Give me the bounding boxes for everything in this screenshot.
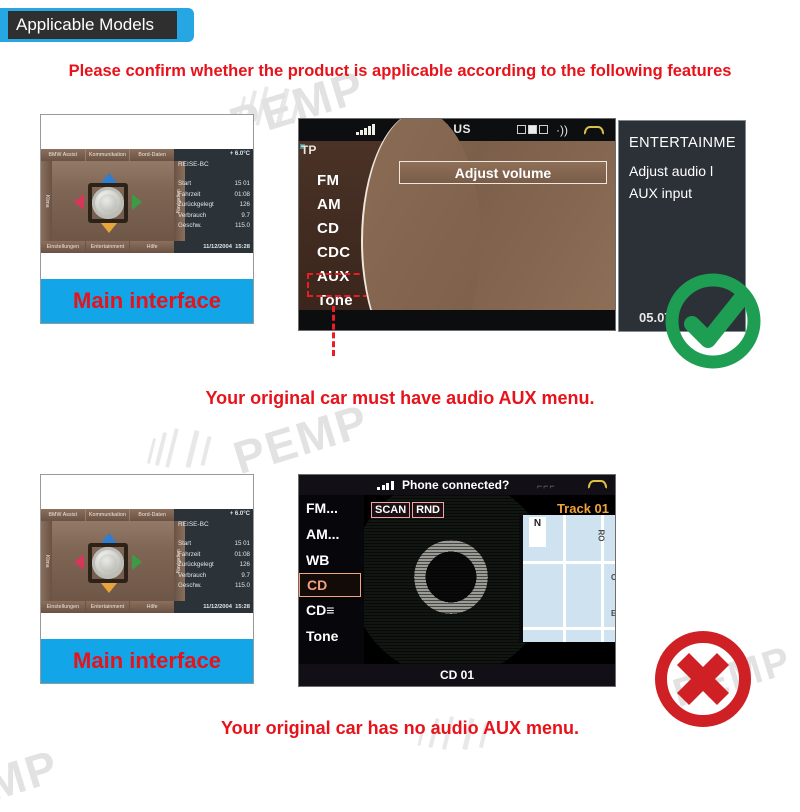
cd-menu-list: FM... AM... WB CD CD≡ Tone — [299, 495, 364, 664]
bc-row: Fahrzeit01:08 — [178, 190, 250, 201]
idrive-tab-bord-daten[interactable]: Bord-Daten — [130, 149, 174, 161]
arrow-right-icon — [132, 194, 142, 210]
idrive-controller-knob[interactable] — [74, 173, 142, 233]
plus-radio-screenshot: PLUS ·)) TP FM AM CD CDC AUX Tone Adjust… — [298, 118, 616, 331]
signal-bars-icon — [356, 125, 375, 135]
bc-label: Fahrzeit — [178, 550, 200, 561]
bc-label: Verbrauch — [178, 571, 206, 582]
cd-menu-item-tone[interactable]: Tone — [299, 623, 364, 649]
cd-radio-screenshot: Phone connected? ⌐⌐⌐ FM... AM... WB CD C… — [298, 474, 616, 687]
bc-date: 11/12/2004 — [203, 604, 232, 610]
idrive-bc-panel: Navigation + 6.0°C REISE-BC Start15 01 F… — [174, 509, 253, 613]
bc-footer: 11/12/2004 15:28 — [203, 604, 250, 610]
cd-menu-item-wb[interactable]: WB — [299, 547, 364, 573]
bc-panel-title: REISE-BC — [178, 521, 209, 528]
bc-rows: Start15 01 Fahrzeit01:08 Zurückgelegt126… — [178, 539, 250, 592]
arrow-up-icon — [101, 173, 117, 183]
tp-label[interactable]: TP — [301, 143, 316, 157]
bc-label: Start — [178, 539, 191, 550]
idrive-tab-kommunikation[interactable]: Kommunikation — [86, 149, 130, 161]
track-number: Track 01 — [557, 501, 609, 516]
map-label-ro: RO — [597, 530, 606, 542]
idrive-tab-einstellungen[interactable]: Einstellungen — [41, 601, 85, 613]
banner-title: Applicable Models — [8, 11, 177, 39]
bc-label: Zurückgelegt — [178, 560, 214, 571]
main-interface-card-1: BMW Assist Kommunikation Bord-Daten Klim… — [40, 114, 254, 324]
signal-bars-icon — [377, 481, 394, 490]
bc-value: 126 — [240, 200, 250, 211]
watermark-pemp-partial: MP — [0, 739, 65, 812]
idrive-tab-entertainment[interactable]: Entertainment — [86, 601, 130, 613]
bc-value: 9.7 — [241, 571, 250, 582]
scan-chip[interactable]: SCAN — [371, 502, 410, 518]
idrive-menu-area: BMW Assist Kommunikation Bord-Daten Klim… — [41, 149, 174, 253]
plus-bottom-bar — [299, 310, 615, 330]
cd-menu-item-am[interactable]: AM... — [299, 521, 364, 547]
idrive-bc-panel: Navigation + 6.0°C REISE-BC Start15 01 F… — [174, 149, 253, 253]
bc-rows: Start15 01 Fahrzeit01:08 Zurückgelegt126… — [178, 179, 250, 232]
car-icon — [588, 480, 607, 489]
arrow-down-icon — [101, 223, 117, 233]
bc-row: Verbrauch9.7 — [178, 211, 250, 222]
bc-label: Fahrzeit — [178, 190, 200, 201]
section-caption-supported: Your original car must have audio AUX me… — [0, 388, 800, 409]
entertainment-option-audio[interactable]: Adjust audio l — [629, 163, 713, 179]
page-headline: Please confirm whether the product is ap… — [0, 62, 800, 81]
idrive-bottom-tabs: Einstellungen Entertainment Hilfe — [41, 241, 174, 253]
navigation-map-strip: N RO C E E TRO — [519, 515, 615, 642]
map-label-e: E — [611, 609, 615, 618]
segment-indicator-icon — [517, 125, 548, 134]
bc-row: Geschw.115.0 — [178, 581, 250, 592]
plus-menu-item-fm[interactable]: FM — [317, 169, 353, 193]
cd-menu-item-cdc[interactable]: CD≡ — [299, 597, 364, 623]
car-icon — [584, 126, 604, 135]
cd-footer-label: CD 01 — [299, 664, 615, 686]
bc-value: 15 01 — [235, 179, 250, 190]
idrive-top-tabs: BMW Assist Kommunikation Bord-Daten — [41, 149, 174, 161]
aux-highlight-box — [307, 273, 369, 297]
bc-value: 01:08 — [235, 550, 250, 561]
idrive-screenshot-2: BMW Assist Kommunikation Bord-Daten Klim… — [41, 509, 253, 613]
idrive-tab-einstellungen[interactable]: Einstellungen — [41, 241, 85, 253]
idrive-tab-klima[interactable]: Klima — [41, 161, 52, 241]
arrow-left-icon — [74, 554, 84, 570]
arrow-left-icon — [74, 194, 84, 210]
cd-menu-item-fm[interactable]: FM... — [299, 495, 364, 521]
cd-mode-chips: SCAN RND — [371, 502, 444, 518]
bc-label: Start — [178, 179, 191, 190]
bc-panel-title: REISE-BC — [178, 161, 209, 168]
cd-menu-item-cd[interactable]: CD — [299, 573, 361, 597]
bc-value: 115.0 — [235, 221, 250, 232]
arrow-right-icon — [132, 554, 142, 570]
idrive-tab-bmw-assist[interactable]: BMW Assist — [41, 509, 85, 521]
outside-temperature: + 6.0°C — [230, 511, 250, 517]
idrive-tab-entertainment[interactable]: Entertainment — [86, 241, 130, 253]
bc-row: Zurückgelegt126 — [178, 200, 250, 211]
bc-row: Geschw.115.0 — [178, 221, 250, 232]
idrive-screenshot-1: BMW Assist Kommunikation Bord-Daten Klim… — [41, 149, 253, 253]
idrive-tab-hilfe[interactable]: Hilfe — [130, 601, 174, 613]
main-interface-label: Main interface — [41, 279, 253, 323]
bc-label: Zurückgelegt — [178, 200, 214, 211]
map-label-c: C — [611, 573, 615, 582]
bc-label: Geschw. — [178, 581, 202, 592]
rnd-chip[interactable]: RND — [412, 502, 444, 518]
adjust-volume-item[interactable]: Adjust volume — [399, 161, 607, 184]
cross-badge — [652, 628, 754, 730]
main-interface-label: Main interface — [41, 639, 253, 683]
knob-dial — [92, 187, 124, 219]
bc-label: Geschw. — [178, 221, 202, 232]
bc-value: 126 — [240, 560, 250, 571]
outside-temperature: + 6.0°C — [230, 151, 250, 157]
phone-connected-text: Phone connected? — [402, 478, 509, 492]
idrive-controller-knob[interactable] — [74, 533, 142, 593]
bc-time: 15:28 — [235, 244, 250, 250]
bc-row: Start15 01 — [178, 539, 250, 550]
bc-date: 11/12/2004 — [203, 244, 232, 250]
arrow-up-icon — [101, 533, 117, 543]
map-orange-marker — [519, 519, 521, 545]
idrive-menu-area: BMW Assist Kommunikation Bord-Daten Klim… — [41, 509, 174, 613]
bc-value: 15 01 — [235, 539, 250, 550]
knob-dial — [92, 547, 124, 579]
bc-value: 115.0 — [235, 581, 250, 592]
bc-time: 15:28 — [235, 604, 250, 610]
idrive-top-tabs: BMW Assist Kommunikation Bord-Daten — [41, 509, 174, 521]
plus-content-area: TP FM AM CD CDC AUX Tone Adjust volume — [299, 141, 615, 310]
bc-row: Start15 01 — [178, 179, 250, 190]
bc-footer: 11/12/2004 15:28 — [203, 244, 250, 250]
idrive-tab-klima[interactable]: Klima — [41, 521, 52, 601]
idrive-tab-bord-daten[interactable]: Bord-Daten — [130, 509, 174, 521]
main-interface-card-2: BMW Assist Kommunikation Bord-Daten Klim… — [40, 474, 254, 684]
check-badge — [664, 272, 762, 370]
cd-content-area: FM... AM... WB CD CD≡ Tone SCAN RND Trac… — [299, 495, 615, 664]
aux-callout-line — [332, 306, 335, 356]
antenna-icon: ⌐⌐⌐ — [537, 481, 556, 491]
plus-menu-item-cdc[interactable]: CDC — [317, 241, 353, 265]
entertainment-option-aux-input[interactable]: AUX input — [629, 185, 692, 201]
idrive-tab-bmw-assist[interactable]: BMW Assist — [41, 149, 85, 161]
bc-value: 01:08 — [235, 190, 250, 201]
arrow-down-icon — [101, 583, 117, 593]
plus-arc-divider — [361, 118, 481, 331]
bc-label: Verbrauch — [178, 211, 206, 222]
idrive-tab-hilfe[interactable]: Hilfe — [130, 241, 174, 253]
bc-row: Verbrauch9.7 — [178, 571, 250, 582]
plus-menu-item-am[interactable]: AM — [317, 193, 353, 217]
broadcast-wave-icon: ·)) — [556, 123, 568, 137]
cd-status-bar: Phone connected? ⌐⌐⌐ — [299, 475, 615, 495]
bc-row: Fahrzeit01:08 — [178, 550, 250, 561]
idrive-tab-kommunikation[interactable]: Kommunikation — [86, 509, 130, 521]
bc-value: 9.7 — [241, 211, 250, 222]
idrive-bottom-tabs: Einstellungen Entertainment Hilfe — [41, 601, 174, 613]
compass-north-label: N — [534, 518, 541, 529]
entertainment-title: ENTERTAINME — [629, 135, 736, 151]
bc-row: Zurückgelegt126 — [178, 560, 250, 571]
compass-icon: N — [529, 517, 546, 547]
plus-menu-item-cd[interactable]: CD — [317, 217, 353, 241]
watermark-stripes-mid — [150, 428, 220, 474]
